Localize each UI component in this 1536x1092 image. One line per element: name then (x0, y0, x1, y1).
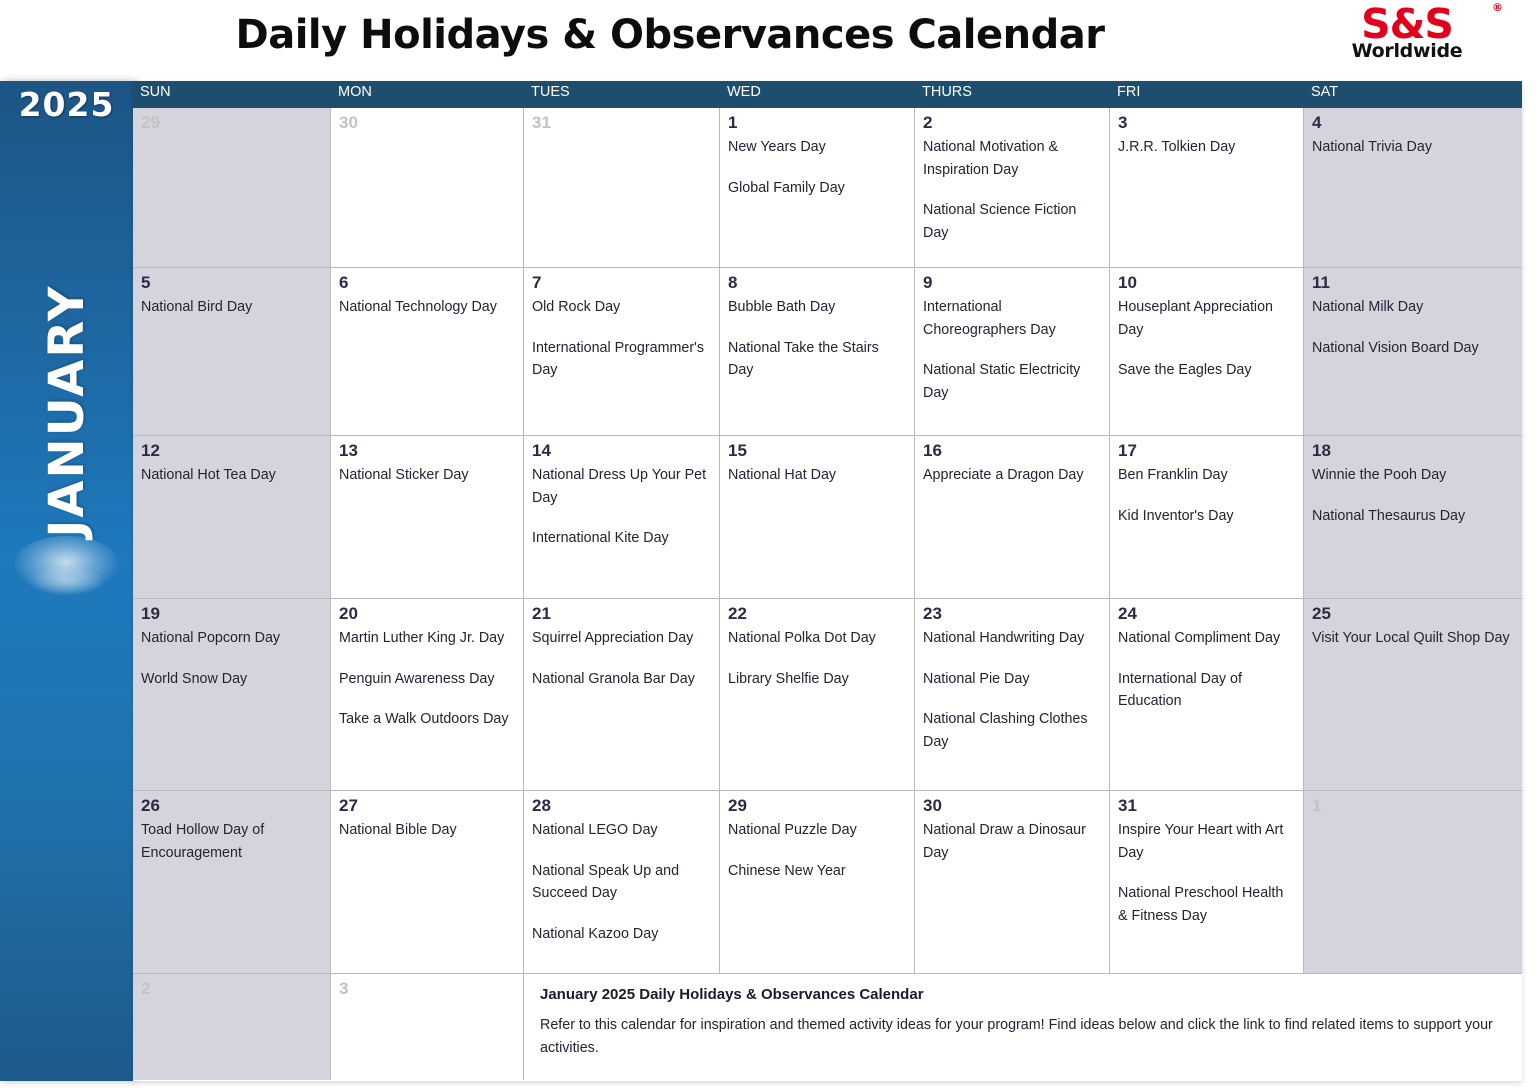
day-number: 16 (923, 441, 1102, 461)
day-cell[interactable]: 2 (133, 974, 331, 1080)
day-number: 4 (1312, 113, 1515, 133)
day-number: 19 (141, 604, 323, 624)
observance-entry[interactable]: World Snow Day (141, 668, 323, 691)
year-label: 2025 (0, 85, 133, 124)
observance-entry[interactable]: Chinese New Year (728, 860, 907, 883)
week-row: 2930311New Years DayGlobal Family Day2Na… (133, 108, 1522, 268)
observance-entry[interactable]: National Hat Day (728, 464, 907, 487)
day-number: 28 (532, 796, 712, 816)
calendar-grid: SUN MON TUES WED THURS FRI SAT 2930311Ne… (133, 81, 1522, 1081)
day-number: 17 (1118, 441, 1296, 461)
month-rail: 2025 JANUARY (0, 81, 133, 1081)
day-number: 9 (923, 273, 1102, 293)
observance-entry[interactable]: National Granola Bar Day (532, 668, 712, 691)
day-number: 31 (1118, 796, 1296, 816)
observance-entry[interactable]: National Bird Day (141, 296, 323, 319)
week-row: 26Toad Hollow Day of Encouragement27Nati… (133, 791, 1522, 974)
day-cell[interactable]: 19National Popcorn DayWorld Snow Day (133, 599, 331, 790)
observance-entry[interactable]: National Static Electricity Day (923, 359, 1102, 404)
day-cell[interactable]: 3 (331, 974, 524, 1080)
day-number: 23 (923, 604, 1102, 624)
observance-entry[interactable]: Bubble Bath Day (728, 296, 907, 319)
day-cell[interactable]: 9International Choreographers DayNationa… (915, 268, 1110, 435)
day-number: 24 (1118, 604, 1296, 624)
observance-entry[interactable]: National Take the Stairs Day (728, 337, 907, 382)
observance-entry[interactable]: Ben Franklin Day (1118, 464, 1296, 487)
observance-entry[interactable]: National Technology Day (339, 296, 516, 319)
observance-entry[interactable]: International Programmer's Day (532, 337, 712, 382)
day-number: 30 (339, 113, 516, 133)
day-cell[interactable]: 25Visit Your Local Quilt Shop Day (1304, 599, 1522, 790)
observance-entry[interactable]: National Motivation & Inspiration Day (923, 136, 1102, 181)
dow-thurs: THURS (915, 81, 1110, 108)
observance-entry[interactable]: National Bible Day (339, 819, 516, 842)
day-cell[interactable]: 20Martin Luther King Jr. DayPenguin Awar… (331, 599, 524, 790)
observance-entry[interactable]: National Pie Day (923, 668, 1102, 691)
observance-entry[interactable]: National LEGO Day (532, 819, 712, 842)
day-number: 29 (728, 796, 907, 816)
dow-mon: MON (331, 81, 524, 108)
logo-mark-text: S&S (1361, 0, 1453, 48)
observance-entry[interactable]: International Day of Education (1118, 668, 1296, 713)
day-cell[interactable]: 3J.R.R. Tolkien Day (1110, 108, 1304, 267)
observance-entry[interactable]: National Thesaurus Day (1312, 505, 1515, 528)
page-header: Daily Holidays & Observances Calendar S&… (0, 0, 1536, 85)
day-cell[interactable]: 31 (524, 108, 720, 267)
day-cell[interactable]: 14National Dress Up Your Pet DayInternat… (524, 436, 720, 598)
day-cell[interactable]: 18Winnie the Pooh DayNational Thesaurus … (1304, 436, 1522, 598)
dow-sat: SAT (1304, 81, 1522, 108)
day-number: 22 (728, 604, 907, 624)
day-cell[interactable]: 1 (1304, 791, 1522, 973)
observance-entry[interactable]: National Handwriting Day (923, 627, 1102, 650)
day-number: 1 (1312, 796, 1515, 816)
day-number: 21 (532, 604, 712, 624)
day-cell[interactable]: 1New Years DayGlobal Family Day (720, 108, 915, 267)
day-number: 10 (1118, 273, 1296, 293)
observance-entry[interactable]: Save the Eagles Day (1118, 359, 1296, 382)
day-number: 15 (728, 441, 907, 461)
day-number: 18 (1312, 441, 1515, 461)
day-cell[interactable]: 23National Handwriting DayNational Pie D… (915, 599, 1110, 790)
day-number: 2 (923, 113, 1102, 133)
note-title: January 2025 Daily Holidays & Observance… (540, 986, 1508, 1003)
day-cell[interactable]: 2National Motivation & Inspiration DayNa… (915, 108, 1110, 267)
day-cell[interactable]: 28National LEGO DayNational Speak Up and… (524, 791, 720, 973)
day-number: 12 (141, 441, 323, 461)
observance-entry[interactable]: National Trivia Day (1312, 136, 1515, 159)
week-row: 5National Bird Day6National Technology D… (133, 268, 1522, 436)
day-cell[interactable]: 4National Trivia Day (1304, 108, 1522, 267)
day-cell[interactable]: 6National Technology Day (331, 268, 524, 435)
day-cell[interactable]: 15National Hat Day (720, 436, 915, 598)
day-number: 3 (339, 979, 516, 999)
note-body: Refer to this calendar for inspiration a… (540, 1014, 1508, 1060)
observance-entry[interactable]: Houseplant Appreciation Day (1118, 296, 1296, 341)
observance-entry[interactable]: National Vision Board Day (1312, 337, 1515, 360)
observance-entry[interactable]: Martin Luther King Jr. Day (339, 627, 516, 650)
day-cell[interactable]: 16Appreciate a Dragon Day (915, 436, 1110, 598)
registered-icon: ® (1492, 2, 1502, 13)
logo-mark: S&S® (1322, 4, 1492, 45)
day-cell[interactable]: 17Ben Franklin DayKid Inventor's Day (1110, 436, 1304, 598)
day-cell[interactable]: 29National Puzzle DayChinese New Year (720, 791, 915, 973)
day-cell[interactable]: 26Toad Hollow Day of Encouragement (133, 791, 331, 973)
day-number: 13 (339, 441, 516, 461)
observance-entry[interactable]: Global Family Day (728, 177, 907, 200)
observance-entry[interactable]: National Compliment Day (1118, 627, 1296, 650)
observance-entry[interactable]: National Polka Dot Day (728, 627, 907, 650)
day-cell[interactable]: 13National Sticker Day (331, 436, 524, 598)
observance-entry[interactable]: National Milk Day (1312, 296, 1515, 319)
observance-entry[interactable]: International Kite Day (532, 527, 712, 550)
day-number: 26 (141, 796, 323, 816)
day-cell[interactable]: 30 (331, 108, 524, 267)
observance-entry[interactable]: Squirrel Appreciation Day (532, 627, 712, 650)
day-number: 20 (339, 604, 516, 624)
day-cell[interactable]: 8Bubble Bath DayNational Take the Stairs… (720, 268, 915, 435)
dow-fri: FRI (1110, 81, 1304, 108)
ss-worldwide-logo: S&S® Worldwide (1322, 4, 1492, 76)
observance-entry[interactable]: Old Rock Day (532, 296, 712, 319)
day-number: 14 (532, 441, 712, 461)
day-cell[interactable]: 30National Draw a Dinosaur Day (915, 791, 1110, 973)
observance-entry[interactable]: National Draw a Dinosaur Day (923, 819, 1102, 864)
day-number: 31 (532, 113, 712, 133)
day-cell[interactable]: 5National Bird Day (133, 268, 331, 435)
day-cell[interactable]: 22National Polka Dot DayLibrary Shelfie … (720, 599, 915, 790)
observance-entry[interactable]: Toad Hollow Day of Encouragement (141, 819, 323, 864)
week-row: 12National Hot Tea Day13National Sticker… (133, 436, 1522, 599)
observance-entry[interactable]: New Years Day (728, 136, 907, 159)
week-row: 19National Popcorn DayWorld Snow Day20Ma… (133, 599, 1522, 791)
day-number: 1 (728, 113, 907, 133)
observance-entry[interactable]: Visit Your Local Quilt Shop Day (1312, 627, 1515, 650)
observance-entry[interactable]: National Popcorn Day (141, 627, 323, 650)
observance-entry[interactable]: National Kazoo Day (532, 923, 712, 946)
day-cell[interactable]: 24National Compliment DayInternational D… (1110, 599, 1304, 790)
day-of-week-header: SUN MON TUES WED THURS FRI SAT (133, 81, 1522, 108)
observance-entry[interactable]: Take a Walk Outdoors Day (339, 708, 516, 731)
day-number: 8 (728, 273, 907, 293)
day-cell[interactable]: 11National Milk DayNational Vision Board… (1304, 268, 1522, 435)
day-number: 27 (339, 796, 516, 816)
observance-entry[interactable]: National Sticker Day (339, 464, 516, 487)
day-cell[interactable]: 7Old Rock DayInternational Programmer's … (524, 268, 720, 435)
observance-entry[interactable]: National Preschool Health & Fitness Day (1118, 882, 1296, 927)
observance-entry[interactable]: Library Shelfie Day (728, 668, 907, 691)
observance-entry[interactable]: J.R.R. Tolkien Day (1118, 136, 1296, 159)
observance-entry[interactable]: International Choreographers Day (923, 296, 1102, 341)
dow-wed: WED (720, 81, 915, 108)
observance-entry[interactable]: Inspire Your Heart with Art Day (1118, 819, 1296, 864)
day-cell[interactable]: 10Houseplant Appreciation DaySave the Ea… (1110, 268, 1304, 435)
rail-glow-decoration (13, 536, 119, 594)
day-number: 5 (141, 273, 323, 293)
day-number: 25 (1312, 604, 1515, 624)
observance-entry[interactable]: Appreciate a Dragon Day (923, 464, 1102, 487)
observance-entry[interactable]: Penguin Awareness Day (339, 668, 516, 691)
day-number: 2 (141, 979, 323, 999)
day-number: 29 (141, 113, 323, 133)
day-cell[interactable]: 31Inspire Your Heart with Art DayNationa… (1110, 791, 1304, 973)
day-number: 7 (532, 273, 712, 293)
day-cell[interactable]: 27National Bible Day (331, 791, 524, 973)
day-cell[interactable]: 12National Hot Tea Day (133, 436, 331, 598)
day-cell[interactable]: 21Squirrel Appreciation DayNational Gran… (524, 599, 720, 790)
dow-sun: SUN (133, 81, 331, 108)
observance-entry[interactable]: National Clashing Clothes Day (923, 708, 1102, 753)
calendar-note: January 2025 Daily Holidays & Observance… (524, 974, 1522, 1080)
observance-entry[interactable]: National Science Fiction Day (923, 199, 1102, 244)
observance-entry[interactable]: Kid Inventor's Day (1118, 505, 1296, 528)
day-number: 6 (339, 273, 516, 293)
observance-entry[interactable]: National Speak Up and Succeed Day (532, 860, 712, 905)
day-number: 30 (923, 796, 1102, 816)
day-number: 11 (1312, 273, 1515, 293)
observance-entry[interactable]: National Puzzle Day (728, 819, 907, 842)
dow-tues: TUES (524, 81, 720, 108)
month-label: JANUARY (39, 285, 95, 538)
day-cell[interactable]: 29 (133, 108, 331, 267)
observance-entry[interactable]: Winnie the Pooh Day (1312, 464, 1515, 487)
page-title: Daily Holidays & Observances Calendar (0, 12, 1340, 58)
day-number: 3 (1118, 113, 1296, 133)
observance-entry[interactable]: National Hot Tea Day (141, 464, 323, 487)
footer-row: 2 3 January 2025 Daily Holidays & Observ… (133, 974, 1522, 1080)
observance-entry[interactable]: National Dress Up Your Pet Day (532, 464, 712, 509)
